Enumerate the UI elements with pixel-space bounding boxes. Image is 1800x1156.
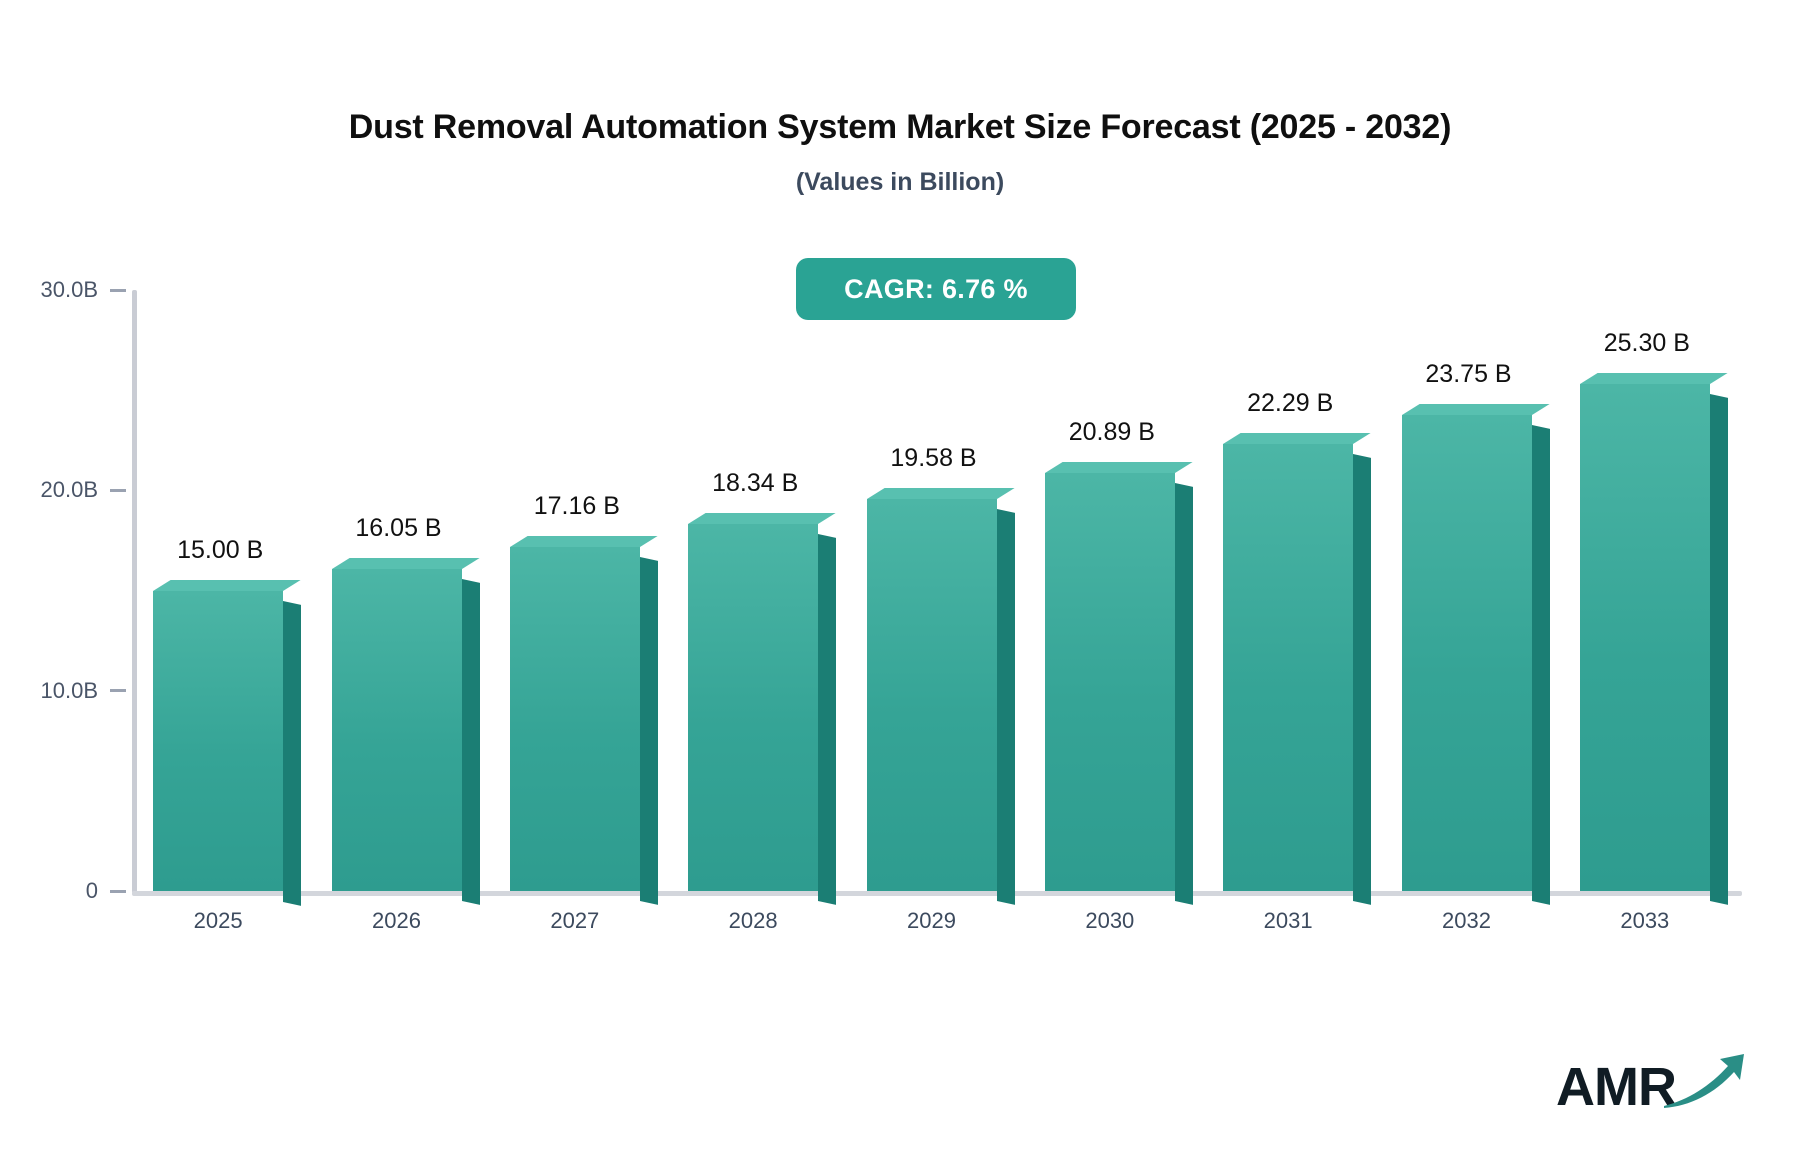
- bar-top-face: [1045, 462, 1193, 473]
- y-axis-tick: 10.0B: [41, 678, 127, 704]
- y-axis-tick-label: 30.0B: [41, 277, 99, 303]
- x-axis-tick-label: 2026: [312, 908, 482, 934]
- x-axis-tick-label: 2031: [1203, 908, 1373, 934]
- bar-side-face: [1710, 394, 1728, 905]
- chart-subtitle: (Values in Billion): [0, 168, 1800, 197]
- bar-front-face: [153, 591, 283, 892]
- bar-value-label: 25.30 B: [1562, 329, 1732, 358]
- y-axis-ticks: 010.0B20.0B30.0B: [0, 290, 126, 893]
- bar-front-face: [688, 524, 818, 891]
- bar-value-label: 18.34 B: [670, 469, 840, 498]
- bar-value-label: 20.89 B: [1027, 418, 1197, 447]
- bar-top-face: [332, 558, 480, 569]
- bar-front-face: [1402, 415, 1532, 891]
- bar-column[interactable]: 17.16 B: [510, 290, 640, 891]
- chart-title: Dust Removal Automation System Market Si…: [0, 108, 1800, 147]
- bar-top-face: [867, 488, 1015, 499]
- bar-top-face: [1580, 373, 1728, 384]
- x-axis-tick-label: 2025: [133, 908, 303, 934]
- y-axis-tick: 30.0B: [41, 277, 127, 303]
- bar-value-label: 16.05 B: [314, 514, 484, 543]
- y-axis-tick-mark: [110, 689, 126, 692]
- y-axis-tick-label: 0: [86, 878, 98, 904]
- x-axis-tick-label: 2029: [847, 908, 1017, 934]
- bar-top-face: [1223, 433, 1371, 444]
- bar-series: 15.00 B16.05 B17.16 B18.34 B19.58 B20.89…: [137, 290, 1742, 891]
- x-axis-tick-label: 2030: [1025, 908, 1195, 934]
- bar-value-label: 19.58 B: [849, 444, 1019, 473]
- bar-side-face: [1353, 454, 1371, 904]
- x-axis-tick-label: 2032: [1382, 908, 1552, 934]
- bar-side-face: [818, 534, 836, 905]
- bar-column[interactable]: 19.58 B: [867, 290, 997, 891]
- amr-logo-text: AMR: [1556, 1060, 1676, 1114]
- x-axis-tick-label: 2027: [490, 908, 660, 934]
- bar-front-face: [867, 499, 997, 891]
- bar-side-face: [1175, 483, 1193, 905]
- y-axis-tick-mark: [110, 289, 126, 292]
- y-axis-tick: 0: [86, 878, 126, 904]
- bar-top-face: [153, 580, 301, 591]
- x-axis-tick-label: 2028: [668, 908, 838, 934]
- y-axis-tick-mark: [110, 890, 126, 893]
- bar-value-label: 22.29 B: [1205, 389, 1375, 418]
- bar-column[interactable]: 20.89 B: [1045, 290, 1175, 891]
- bar-side-face: [1532, 425, 1550, 905]
- x-axis-tick-label: 2033: [1560, 908, 1730, 934]
- bar-column[interactable]: 16.05 B: [332, 290, 462, 891]
- bar-value-label: 23.75 B: [1384, 360, 1554, 389]
- bar-column[interactable]: 25.30 B: [1580, 290, 1710, 891]
- bar-front-face: [1223, 444, 1353, 891]
- bar-side-face: [283, 601, 301, 905]
- bar-top-face: [510, 536, 658, 547]
- bar-top-face: [1402, 404, 1550, 415]
- bar-column[interactable]: 23.75 B: [1402, 290, 1532, 891]
- bar-front-face: [1045, 473, 1175, 891]
- bar-value-label: 17.16 B: [492, 492, 662, 521]
- x-axis-line: [132, 891, 1742, 896]
- bar-side-face: [462, 579, 480, 904]
- bar-side-face: [640, 557, 658, 905]
- y-axis-tick-mark: [110, 489, 126, 492]
- y-axis-tick-label: 20.0B: [41, 477, 99, 503]
- bar-column[interactable]: 22.29 B: [1223, 290, 1353, 891]
- bar-front-face: [510, 547, 640, 891]
- bar-front-face: [1580, 384, 1710, 891]
- bar-front-face: [332, 569, 462, 891]
- growth-arrow-icon: [1662, 1050, 1748, 1112]
- amr-logo: AMR: [1556, 1050, 1748, 1114]
- bar-column[interactable]: 18.34 B: [688, 290, 818, 891]
- bar-side-face: [997, 509, 1015, 905]
- bar-column[interactable]: 15.00 B: [153, 290, 283, 891]
- chart-canvas: Dust Removal Automation System Market Si…: [0, 0, 1800, 1156]
- bar-top-face: [688, 513, 836, 524]
- bar-value-label: 15.00 B: [135, 536, 305, 565]
- y-axis-tick: 20.0B: [41, 477, 127, 503]
- y-axis-tick-label: 10.0B: [41, 678, 99, 704]
